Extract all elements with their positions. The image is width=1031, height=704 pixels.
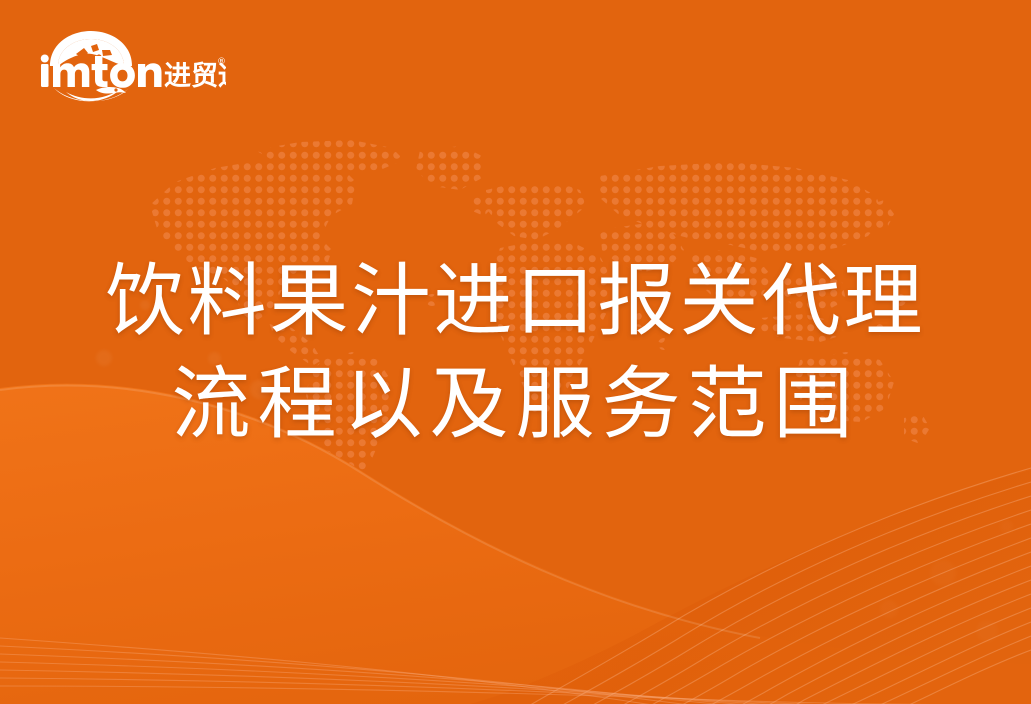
registered-trademark-icon: ® — [217, 57, 226, 67]
swoosh-icon — [54, 87, 128, 101]
title-line-2: 流程以及服务范围 — [0, 355, 1031, 458]
slide-canvas: 进贸通 ® 饮料果汁进口报关代理 流程以及服务范围 — [0, 0, 1031, 704]
page-title: 饮料果汁进口报关代理 流程以及服务范围 — [0, 252, 1031, 457]
brand-logo[interactable]: 进贸通 ® — [36, 26, 226, 102]
title-line-1: 饮料果汁进口报关代理 — [0, 252, 1031, 355]
globe-icon — [50, 31, 132, 66]
